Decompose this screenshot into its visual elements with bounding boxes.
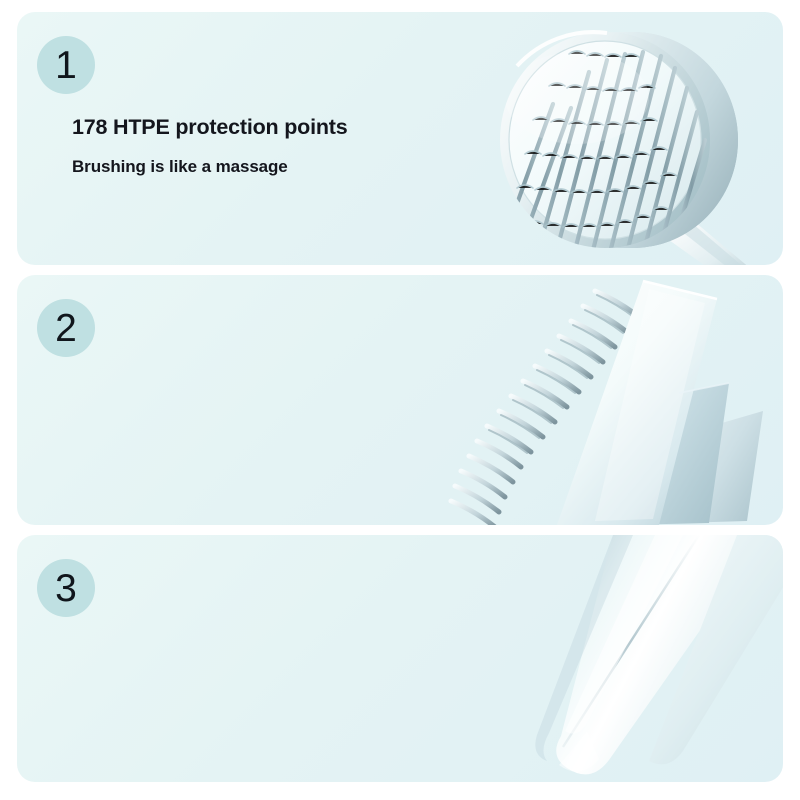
step-badge-3: 3 xyxy=(37,559,95,617)
curved-comb-teeth-image xyxy=(447,275,783,525)
feature-subline-1: Brushing is like a massage xyxy=(72,157,348,177)
rounded-handle-image xyxy=(437,535,783,782)
step-number-1: 1 xyxy=(55,46,77,85)
step-badge-1: 1 xyxy=(37,36,95,94)
step-number-2: 2 xyxy=(55,309,77,348)
step-number-3: 3 xyxy=(55,569,77,608)
feature-card-3: 3 Rounded and comfortable handle Combing… xyxy=(17,535,783,782)
feature-headline-1: 178 HTPE protection points xyxy=(72,115,348,140)
step-badge-2: 2 xyxy=(37,299,95,357)
infographic-page: 1 178 HTPE protection points Brushing is… xyxy=(0,0,800,800)
round-brush-head-image xyxy=(457,12,783,265)
feature-card-1: 1 178 HTPE protection points Brushing is… xyxy=(17,12,783,265)
feature-card-2: 2 140 ° curved comb teeth Anti-static be… xyxy=(17,275,783,525)
feature-text-1: 178 HTPE protection points Brushing is l… xyxy=(72,115,348,177)
